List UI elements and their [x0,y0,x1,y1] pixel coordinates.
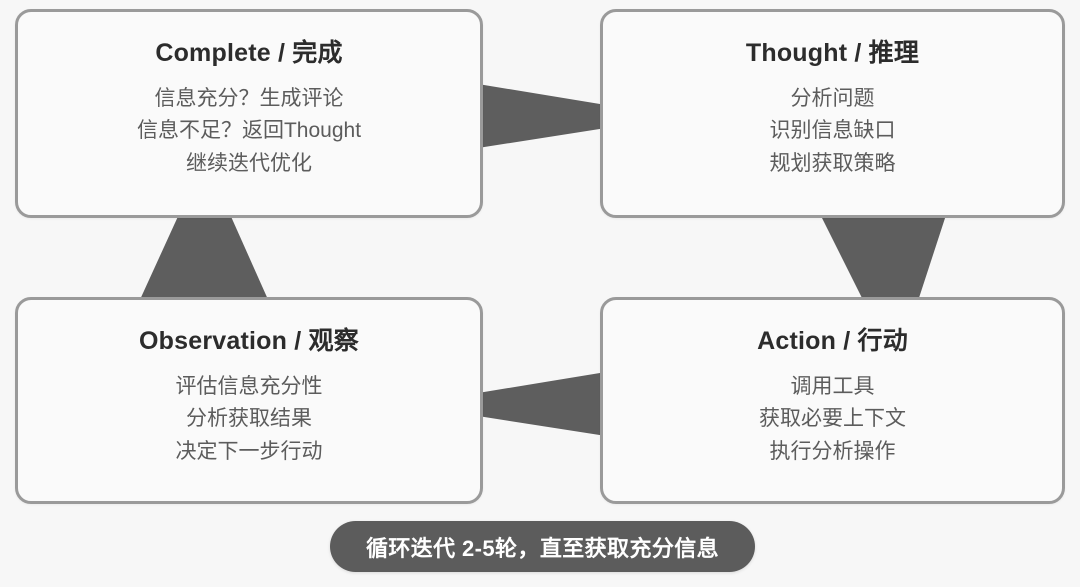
arrow-complete-to-thought-icon [478,78,606,154]
node-complete-line-2: 信息不足？返回Thought [137,116,361,146]
node-observation[interactable]: Observation / 观察 评估信息充分性 分析获取结果 决定下一步行动 [15,297,483,504]
arrow-thought-to-action-icon [812,212,954,304]
node-action[interactable]: Action / 行动 调用工具 获取必要上下文 执行分析操作 [600,297,1065,504]
node-observation-line-1: 评估信息充分性 [176,372,323,402]
node-action-lines: 调用工具 获取必要上下文 执行分析操作 [759,372,906,467]
arrow-action-to-observation-icon [478,366,606,442]
node-thought-lines: 分析问题 识别信息缺口 规划获取策略 [770,84,896,179]
footer-banner-text: 循环迭代 2-5轮，直至获取充分信息 [366,531,719,563]
node-observation-line-2: 分析获取结果 [186,404,312,434]
node-complete-title: Complete / 完成 [155,40,342,68]
footer-banner: 循环迭代 2-5轮，直至获取充分信息 [330,521,755,572]
node-action-line-1: 调用工具 [791,372,875,402]
node-observation-lines: 评估信息充分性 分析获取结果 决定下一步行动 [176,372,323,467]
node-thought-title: Thought / 推理 [746,40,919,68]
node-complete-line-1: 信息充分？生成评论 [155,84,344,114]
node-thought-line-3: 规划获取策略 [770,149,896,179]
node-observation-line-3: 决定下一步行动 [176,437,323,467]
node-thought-line-1: 分析问题 [791,84,875,114]
node-action-title: Action / 行动 [757,328,908,356]
node-action-line-2: 获取必要上下文 [759,404,906,434]
node-action-line-3: 执行分析操作 [770,437,896,467]
arrow-observation-to-complete-icon [130,212,276,304]
node-complete-lines: 信息充分？生成评论 信息不足？返回Thought 继续迭代优化 [137,84,361,179]
node-observation-title: Observation / 观察 [139,328,359,356]
diagram-canvas: Complete / 完成 信息充分？生成评论 信息不足？返回Thought 继… [0,0,1080,587]
node-thought[interactable]: Thought / 推理 分析问题 识别信息缺口 规划获取策略 [600,9,1065,218]
node-thought-line-2: 识别信息缺口 [770,116,896,146]
node-complete[interactable]: Complete / 完成 信息充分？生成评论 信息不足？返回Thought 继… [15,9,483,218]
node-complete-line-3: 继续迭代优化 [186,149,312,179]
